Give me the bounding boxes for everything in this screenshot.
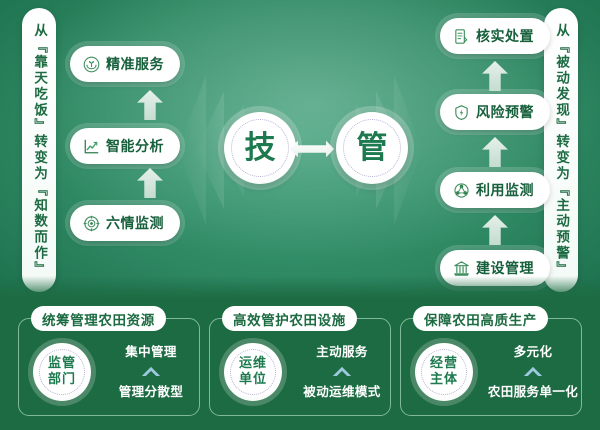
- card-verify-disposal[interactable]: 核实处置: [440, 18, 550, 54]
- panel-texts: 多元化 农田服务单一化: [487, 341, 579, 400]
- side-banner-left: 从『靠天吃饭』转变为『知数而作』: [22, 8, 56, 292]
- panel-texts: 集中管理 管理分散型: [105, 341, 197, 400]
- arrow-up-right-2: [482, 137, 508, 167]
- panel-title: 保障农田高质生产: [413, 306, 548, 331]
- panel-circle-line2: 部门: [48, 372, 76, 388]
- trend-chart-icon: [83, 138, 100, 155]
- center-circle-tech-glyph: 技: [245, 133, 276, 164]
- card-usage-monitor[interactable]: 利用监测: [440, 172, 550, 208]
- arrow-up-right-1: [482, 61, 508, 91]
- chevron-up-icon: [331, 363, 353, 378]
- panel-texts: 主动服务 被动运维模式: [296, 341, 388, 400]
- center-circle-manage-glyph: 管: [357, 133, 388, 164]
- center-circle-tech: 技: [224, 112, 296, 184]
- panel-top-text: 多元化: [487, 341, 579, 360]
- top-stage: 从『靠天吃饭』转变为『知数而作』 从『被动发现』转变为『主动预警』 精准服务: [0, 0, 600, 300]
- shield-alert-icon: [453, 104, 470, 121]
- card-label: 利用监测: [476, 180, 534, 200]
- card-precise-service[interactable]: 精准服务: [70, 46, 180, 82]
- panel-title: 统筹管理农田资源: [31, 306, 166, 331]
- network-nodes-icon: [453, 182, 470, 199]
- panel-circle-operations: 运维 单位: [224, 343, 282, 401]
- panel-bottom-text: 农田服务单一化: [487, 381, 579, 400]
- card-label: 核实处置: [476, 26, 534, 46]
- infographic-root: 从『靠天吃饭』转变为『知数而作』 从『被动发现』转变为『主动预警』 精准服务: [0, 0, 600, 430]
- card-six-condition-monitor[interactable]: 六情监测: [70, 205, 180, 241]
- panel-circle-supervision: 监管 部门: [33, 343, 91, 401]
- panel-circle-line1: 经营: [430, 356, 458, 372]
- hands-sprout-icon: [83, 56, 100, 73]
- card-label: 风险预警: [476, 102, 534, 122]
- chevron-up-icon: [522, 363, 544, 378]
- arrow-up-left-2: [137, 168, 163, 198]
- panel-circle-line2: 单位: [239, 372, 267, 388]
- side-banner-right: 从『被动发现』转变为『主动预警』: [544, 8, 578, 292]
- bottom-section: 统筹管理农田资源 监管 部门 集中管理 管理分散型 高效管护农田设施 运维 单位…: [0, 300, 600, 430]
- bottom-panel-resources: 统筹管理农田资源 监管 部门 集中管理 管理分散型: [18, 318, 200, 416]
- panel-top-text: 主动服务: [296, 341, 388, 360]
- arrow-up-left-1: [137, 90, 163, 120]
- arrow-up-right-3: [482, 215, 508, 245]
- panel-top-text: 集中管理: [105, 341, 197, 360]
- bank-building-icon: [453, 260, 470, 277]
- panel-bottom-text: 被动运维模式: [296, 381, 388, 400]
- target-radar-icon: [83, 215, 100, 232]
- chevron-up-icon: [140, 363, 162, 378]
- card-label: 建设管理: [476, 258, 534, 278]
- panel-circle-line1: 运维: [239, 356, 267, 372]
- panel-circle-line1: 监管: [48, 356, 76, 372]
- card-label: 智能分析: [106, 136, 164, 156]
- panel-circle-line2: 主体: [430, 372, 458, 388]
- side-banner-left-text: 从『靠天吃饭』转变为『知数而作』: [32, 23, 46, 277]
- center-circle-manage: 管: [336, 112, 408, 184]
- card-label: 精准服务: [106, 54, 164, 74]
- bottom-panel-production: 保障农田高质生产 经营 主体 多元化 农田服务单一化: [400, 318, 582, 416]
- card-label: 六情监测: [106, 213, 164, 233]
- card-intelligent-analysis[interactable]: 智能分析: [70, 128, 180, 164]
- side-banner-right-text: 从『被动发现』转变为『主动预警』: [554, 23, 568, 277]
- double-arrow-horizontal-icon: [290, 138, 334, 160]
- card-risk-warning[interactable]: 风险预警: [440, 94, 550, 130]
- panel-circle-operators: 经营 主体: [415, 343, 473, 401]
- panel-bottom-text: 管理分散型: [105, 381, 197, 400]
- bottom-panel-facilities: 高效管护农田设施 运维 单位 主动服务 被动运维模式: [209, 318, 391, 416]
- clipboard-check-icon: [453, 28, 470, 45]
- card-construction-management[interactable]: 建设管理: [440, 250, 550, 286]
- panel-title: 高效管护农田设施: [222, 306, 357, 331]
